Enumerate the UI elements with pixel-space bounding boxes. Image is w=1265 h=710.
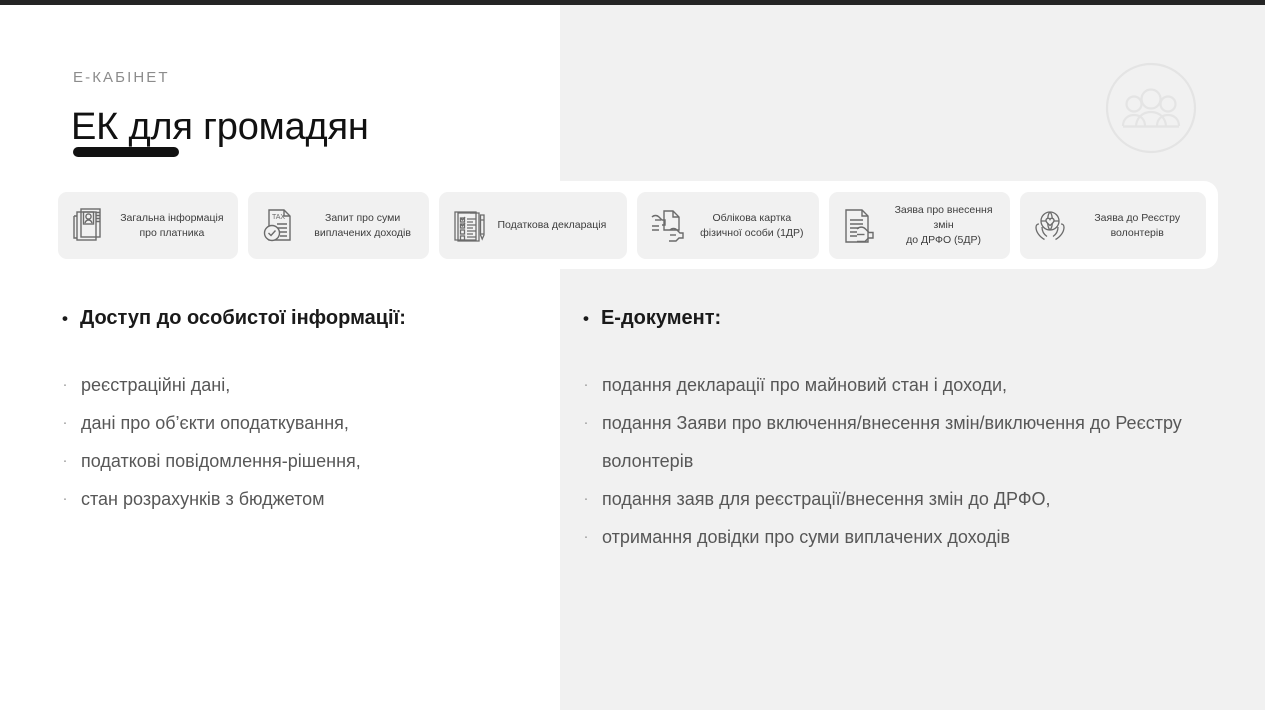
service-card-tax-declaration[interactable]: Податкова декларація — [439, 192, 627, 259]
document-hand-sign-icon — [839, 204, 879, 248]
checklist-pen-icon — [449, 204, 489, 248]
service-card-label: Запит про суми виплачених доходів — [306, 211, 420, 241]
sub-bullet-marker: · — [62, 366, 68, 404]
person-card-stack-icon — [68, 204, 108, 248]
list-item: · стан розрахунків з бюджетом — [62, 480, 552, 518]
service-card-strip: Загальна інформація про платника TAX Зап… — [58, 192, 1206, 259]
sub-bullet-marker: · — [583, 518, 589, 556]
service-card-general-info[interactable]: Загальна інформація про платника — [58, 192, 238, 259]
people-group-icon — [1105, 62, 1197, 154]
sub-bullet-marker: · — [62, 480, 68, 518]
service-card-label: Заява про внесення змін до ДРФО (5ДР) — [887, 203, 1001, 248]
list-item-text: податкові повідомлення-рішення, — [81, 442, 552, 480]
list-item-text: подання Заяви про включення/внесення змі… — [602, 404, 1233, 480]
tax-document-check-icon: TAX — [258, 204, 298, 248]
column-heading-text: Е-документ: — [601, 305, 721, 331]
hand-document-icon — [647, 204, 687, 248]
service-card-volunteer-registry[interactable]: Заява до Реєстру волонтерів — [1020, 192, 1206, 259]
sub-bullet-marker: · — [583, 366, 589, 404]
column-item-list: · реєстраційні дані, · дані про об’єкти … — [62, 366, 552, 518]
list-item-text: отримання довідки про суми виплачених до… — [602, 518, 1233, 556]
slide-canvas: Е-КАБІНЕТ ЕК для громадян — [0, 0, 1265, 710]
bullet-marker: • — [583, 306, 589, 332]
list-item-text: подання заяв для реєстрації/внесення змі… — [602, 480, 1233, 518]
list-item-text: стан розрахунків з бюджетом — [81, 480, 552, 518]
list-item: · податкові повідомлення-рішення, — [62, 442, 552, 480]
service-card-registration-card[interactable]: Облікова картка фізичної особи (1ДР) — [637, 192, 819, 259]
list-item: · дані про об’єкти оподаткування, — [62, 404, 552, 442]
service-card-label: Облікова картка фізичної особи (1ДР) — [695, 211, 809, 241]
column-heading: • Доступ до особистої інформації: — [62, 305, 552, 332]
page-title: ЕК для громадян — [71, 104, 369, 150]
service-card-label: Загальна інформація про платника — [116, 211, 228, 241]
list-item: · реєстраційні дані, — [62, 366, 552, 404]
column-item-list: · подання декларації про майновий стан і… — [583, 366, 1233, 556]
bullet-marker: • — [62, 306, 68, 332]
eyebrow-label: Е-КАБІНЕТ — [73, 69, 170, 86]
service-card-drfo-change[interactable]: Заява про внесення змін до ДРФО (5ДР) — [829, 192, 1011, 259]
column-e-document: • Е-документ: · подання декларації про м… — [583, 305, 1233, 556]
sub-bullet-marker: · — [62, 442, 68, 480]
list-item: · подання заяв для реєстрації/внесення з… — [583, 480, 1233, 518]
hands-globe-heart-icon — [1030, 204, 1070, 248]
top-accent-bar — [0, 0, 1265, 5]
sub-bullet-marker: · — [583, 404, 589, 442]
list-item-text: дані про об’єкти оподаткування, — [81, 404, 552, 442]
list-item: · отримання довідки про суми виплачених … — [583, 518, 1233, 556]
list-item-text: реєстраційні дані, — [81, 366, 552, 404]
svg-text:TAX: TAX — [272, 214, 285, 221]
column-heading: • Е-документ: — [583, 305, 1233, 332]
sub-bullet-marker: · — [583, 480, 589, 518]
list-item-text: подання декларації про майновий стан і д… — [602, 366, 1233, 404]
service-card-income-request[interactable]: TAX Запит про суми виплачених доходів — [248, 192, 430, 259]
column-personal-info: • Доступ до особистої інформації: · реєс… — [62, 305, 552, 518]
service-card-label: Податкова декларація — [497, 218, 617, 233]
column-heading-text: Доступ до особистої інформації: — [80, 305, 406, 331]
service-card-label: Заява до Реєстру волонтерів — [1078, 211, 1196, 241]
sub-bullet-marker: · — [62, 404, 68, 442]
list-item: · подання декларації про майновий стан і… — [583, 366, 1233, 404]
title-underline — [73, 147, 179, 157]
list-item: · подання Заяви про включення/внесення з… — [583, 404, 1233, 480]
